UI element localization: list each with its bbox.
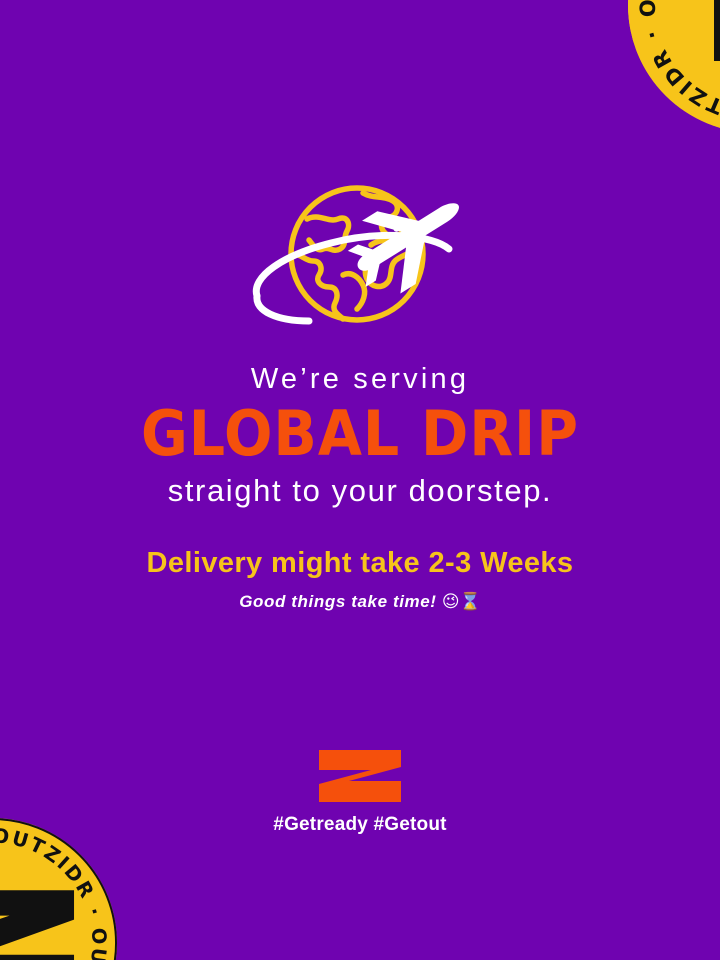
headline-block: We’re serving GLOBAL DRIP straight to yo… bbox=[0, 362, 720, 613]
hashtags-text: #Getready #Getout bbox=[0, 814, 720, 836]
tagline-label: Good things take time! bbox=[239, 592, 436, 611]
brand-badge-top-right: OUTZIDR · OUTZIDR · OUTZIDR · OUTZIDR · … bbox=[628, 0, 720, 133]
page-title: GLOBAL DRIP bbox=[29, 401, 691, 467]
delivery-estimate-text: Delivery might take 2-3 Weeks bbox=[0, 546, 720, 580]
orbit-swoosh-tail bbox=[257, 296, 309, 321]
hero-globe-plane-illustration bbox=[243, 183, 477, 335]
eyebrow-text: We’re serving bbox=[0, 362, 720, 396]
poster-canvas: OUTZIDR · OUTZIDR · OUTZIDR · OUTZIDR · … bbox=[0, 0, 720, 960]
brand-lockup: #Getready #Getout bbox=[0, 750, 720, 836]
tagline-emoji: 😉⌛ bbox=[442, 592, 481, 612]
tagline-text: Good things take time! 😉⌛ bbox=[0, 591, 720, 613]
badge-z-mark bbox=[714, 0, 720, 61]
outzidr-z-logo bbox=[319, 750, 401, 802]
airplane-icon bbox=[335, 183, 477, 307]
brand-badge-bottom-left: OUTZIDR · OUTZIDR · OUTZIDR · OUTZIDR · … bbox=[0, 818, 117, 960]
subline-text: straight to your doorstep. bbox=[0, 473, 720, 509]
